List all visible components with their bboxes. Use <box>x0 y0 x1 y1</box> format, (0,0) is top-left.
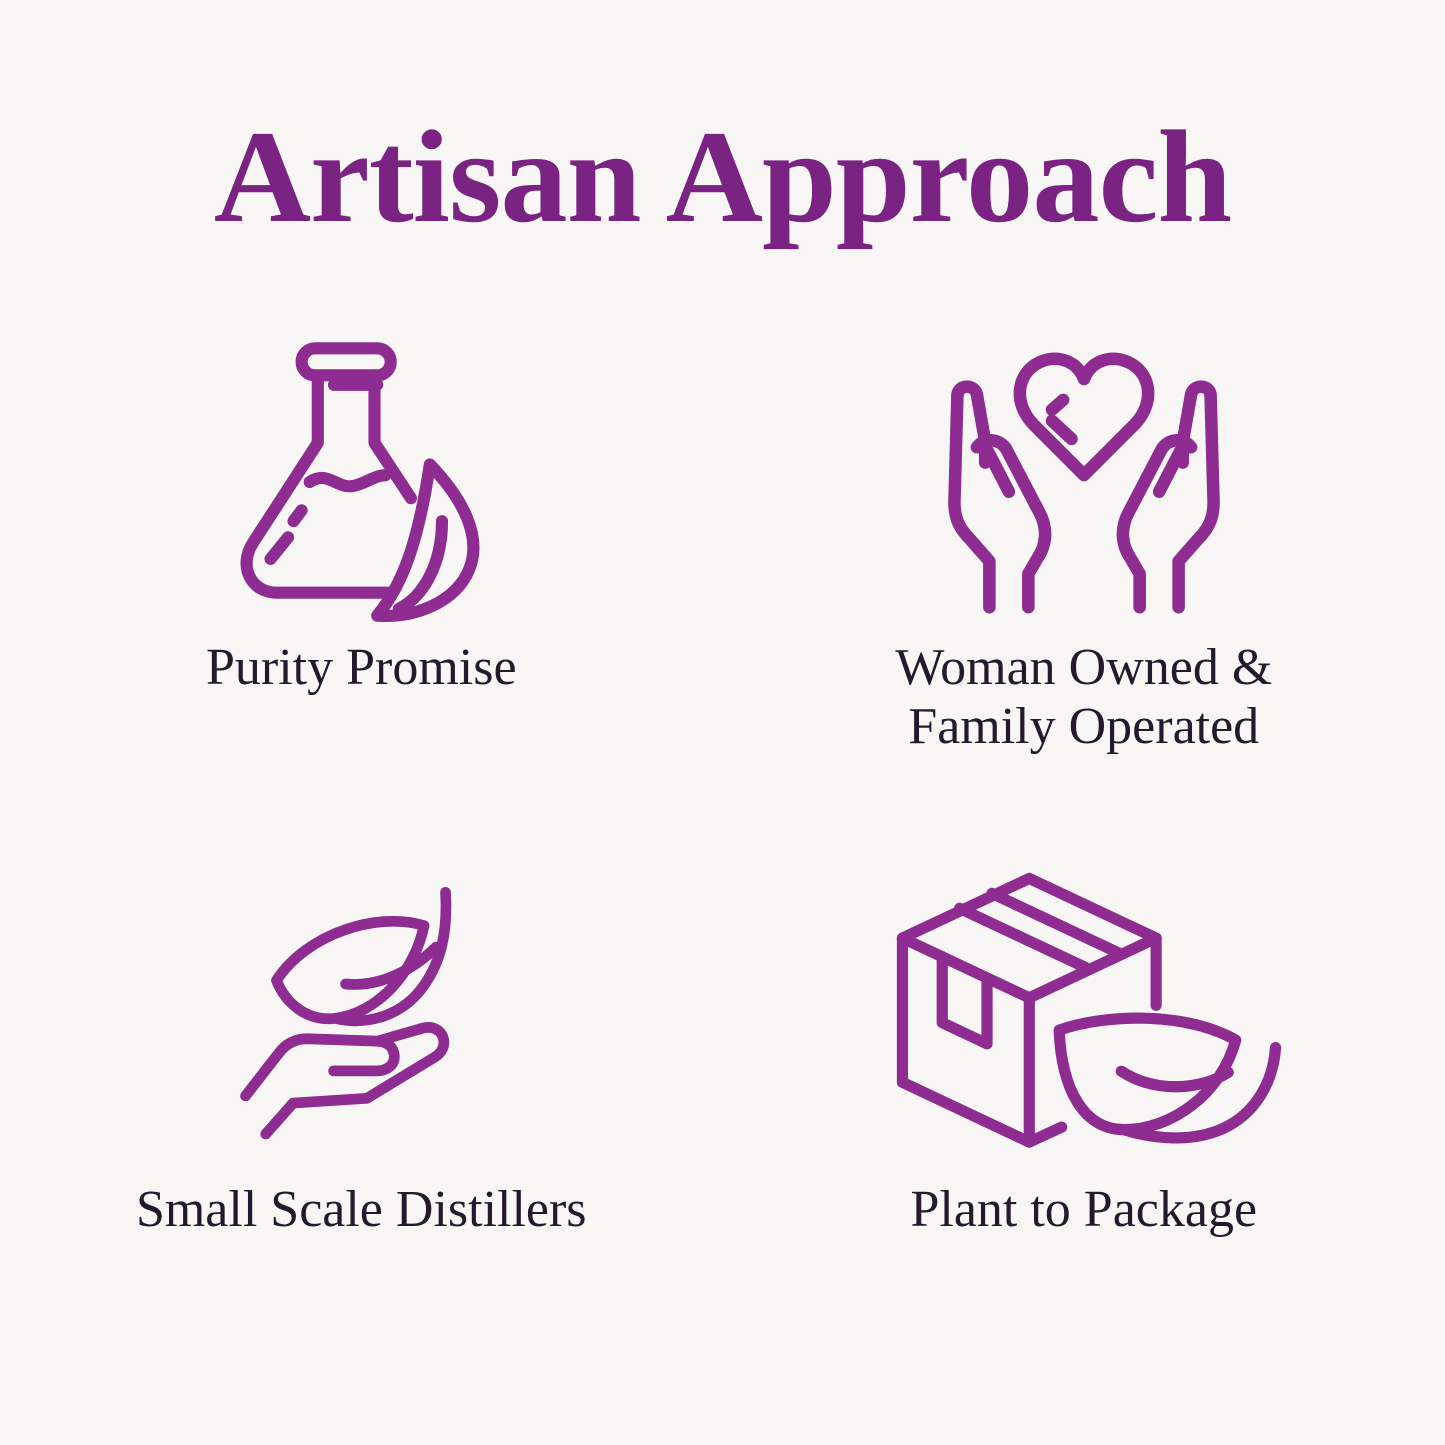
artisan-approach-graphic: Artisan Approach <box>0 0 1445 1445</box>
feature-label: Woman Owned & Family Operated <box>895 638 1272 757</box>
feature-item-plant-to-package: Plant to Package <box>723 860 1445 1390</box>
page-title-container: Artisan Approach <box>0 108 1445 247</box>
feature-label: Small Scale Distillers <box>136 1180 587 1239</box>
feature-label: Purity Promise <box>206 638 517 697</box>
feature-grid: Purity Promise <box>0 330 1445 1390</box>
box-leaf-icon <box>884 866 1284 1152</box>
hands-heart-icon <box>924 336 1244 628</box>
feature-item-purity-promise: Purity Promise <box>0 330 723 860</box>
feature-item-small-scale-distillers: Small Scale Distillers <box>0 860 723 1390</box>
feature-label: Plant to Package <box>910 1180 1257 1239</box>
feature-item-woman-owned: Woman Owned & Family Operated <box>723 330 1445 860</box>
leaf-in-hand-icon <box>236 866 486 1152</box>
page-title: Artisan Approach <box>0 108 1445 247</box>
flask-leaf-icon <box>226 336 496 628</box>
